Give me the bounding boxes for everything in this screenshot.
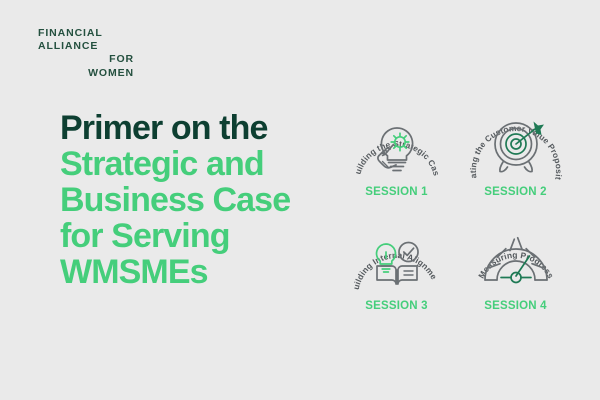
session-4-badge: Measuring Progress <box>465 214 567 298</box>
session-2-badge: Creating the Customer Value Proposition <box>465 100 567 184</box>
session-2-label: SESSION 2 <box>484 186 547 198</box>
session-1-arc-text-svg: Building the Strategic Case <box>342 92 441 177</box>
title-line-4: for Serving <box>60 218 340 254</box>
title-line-2: Strategic and <box>60 146 340 182</box>
logo-line-alliance: ALLIANCE <box>38 40 134 53</box>
session-3-arc-text-svg: Building Internal Alignment <box>342 206 438 291</box>
target-arrow-icon <box>495 122 544 172</box>
logo-line-financial: FINANCIAL <box>38 27 134 40</box>
title-line-1: Primer on the <box>60 110 340 146</box>
session-item-3[interactable]: Building Internal Alignment <box>340 214 453 322</box>
session-1-badge: Building the Strategic Case <box>346 100 448 184</box>
page-title: Primer on the Strategic and Business Cas… <box>60 110 340 290</box>
session-3-arc-textpath: Building Internal Alignment <box>342 206 438 291</box>
book-lightbulb-checkmark-icon <box>376 243 417 285</box>
title-line-5: WMSMEs <box>60 254 340 290</box>
title-line-3: Business Case <box>60 182 340 218</box>
session-2-arc-textpath: Creating the Customer Value Proposition <box>461 92 563 181</box>
session-3-label: SESSION 3 <box>365 300 428 312</box>
session-3-badge: Building Internal Alignment <box>346 214 448 298</box>
session-1-label: SESSION 1 <box>365 186 428 198</box>
logo-line-for: FOR <box>38 53 134 66</box>
session-1-arc-textpath: Building the Strategic Case <box>342 92 441 177</box>
logo-line-women: WOMEN <box>38 67 134 80</box>
session-item-4[interactable]: Measuring Progress <box>459 214 572 322</box>
session-grid: Building the Strategic Case <box>340 100 572 322</box>
session-2-arc-text-svg: Creating the Customer Value Proposition <box>461 92 563 181</box>
session-4-label: SESSION 4 <box>484 300 547 312</box>
session-item-2[interactable]: Creating the Customer Value Proposition <box>459 100 572 208</box>
session-item-1[interactable]: Building the Strategic Case <box>340 100 453 208</box>
organization-logo: FINANCIAL ALLIANCE FOR WOMEN <box>38 27 134 80</box>
